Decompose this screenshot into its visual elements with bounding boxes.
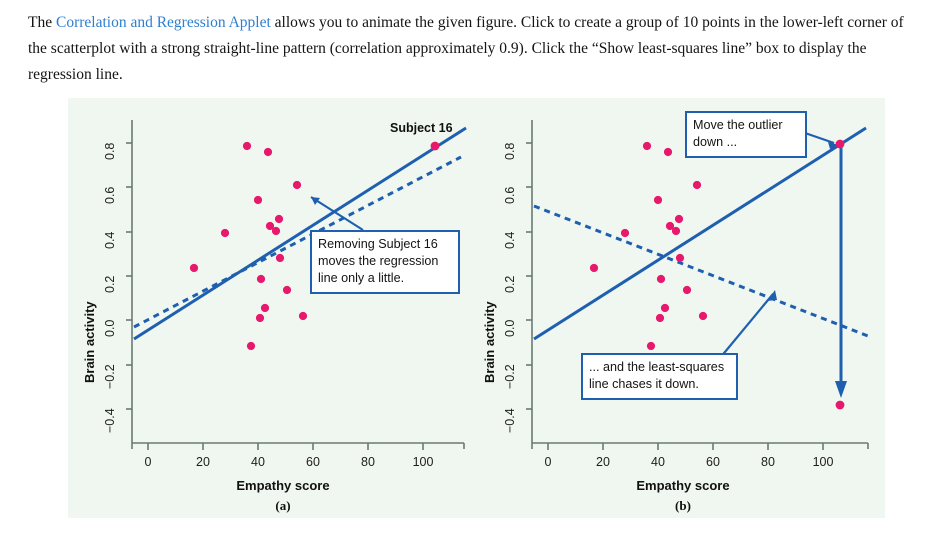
y-tick-label-0.0-a: 0.0: [103, 320, 117, 337]
subcaption-b: (b): [633, 498, 733, 514]
chases-callout-leader-b: [720, 294, 773, 358]
data-point: [654, 196, 662, 204]
subcaption-a: (a): [233, 498, 333, 514]
x-tick-label-80-a: 80: [354, 455, 382, 469]
callout-line-2: line chases it down.: [589, 376, 730, 393]
y-tick-label-0.8-b: 0.8: [503, 143, 517, 160]
data-point: [221, 229, 229, 237]
regression-callout-a: Removing Subject 16 moves the regression…: [310, 230, 460, 294]
callout-line-3: line only a little.: [318, 270, 452, 287]
outlier-move-arrow-head-b: [835, 381, 847, 398]
data-point: [621, 229, 629, 237]
regression-callout-leader-a: [311, 197, 363, 230]
y-tick-label-0.6-a: 0.6: [103, 187, 117, 204]
move-outlier-callout-b: Move the outlier down ...: [685, 111, 807, 158]
data-point: [657, 275, 665, 283]
data-point: [699, 312, 707, 320]
callout-line-1: Removing Subject 16: [318, 236, 452, 253]
move-outlier-callout-leader-b: [805, 133, 834, 143]
data-point-outlier-original: [836, 140, 845, 149]
data-point: [675, 215, 683, 223]
x-tick-label-100-b: 100: [809, 455, 837, 469]
callout-line-2: down ...: [693, 134, 799, 151]
data-point: [676, 254, 684, 262]
intro-paragraph: The Correlation and Regression Applet al…: [28, 10, 924, 88]
chases-callout-arrowhead-b: [767, 290, 777, 301]
x-tick-label-80-b: 80: [754, 455, 782, 469]
scatterplot-b: Brain activity 0.8 0.6 0.4 0.2 0.0 −0.2 …: [468, 98, 876, 518]
y-tick-label-0.0-b: 0.0: [503, 320, 517, 337]
x-tick-label-100-a: 100: [409, 455, 437, 469]
data-point: [664, 148, 672, 156]
data-point-subject-16: [431, 142, 440, 151]
original-least-squares-line-b: [534, 128, 866, 339]
data-point: [647, 342, 655, 350]
data-point: [261, 304, 269, 312]
y-tick-label-0.6-b: 0.6: [503, 187, 517, 204]
x-tick-label-40-b: 40: [644, 455, 672, 469]
y-tick-label-neg0.2-b: −0.2: [503, 364, 517, 389]
data-point: [256, 314, 264, 322]
data-point: [190, 264, 198, 272]
data-point: [283, 286, 291, 294]
callout-line-1: ... and the least-squares: [589, 359, 730, 376]
callout-line-1: Move the outlier: [693, 117, 799, 134]
y-tick-label-neg0.2-a: −0.2: [103, 364, 117, 389]
y-tick-label-0.2-b: 0.2: [503, 276, 517, 293]
data-point: [693, 181, 701, 189]
data-point: [247, 342, 255, 350]
data-point: [264, 148, 272, 156]
y-axis-label-a: Brain activity: [82, 301, 97, 383]
correlation-regression-applet-link[interactable]: Correlation and Regression Applet: [56, 14, 271, 31]
least-squares-chases-callout-b: ... and the least-squares line chases it…: [581, 353, 738, 400]
data-point: [257, 275, 265, 283]
data-point: [643, 142, 651, 150]
data-point: [299, 312, 307, 320]
y-tick-label-0.4-b: 0.4: [503, 232, 517, 249]
x-tick-label-0-a: 0: [134, 455, 162, 469]
data-point: [254, 196, 262, 204]
intro-text-before-link: The: [28, 14, 56, 31]
y-tick-label-0.4-a: 0.4: [103, 232, 117, 249]
x-tick-label-20-a: 20: [189, 455, 217, 469]
data-point: [293, 181, 301, 189]
y-tick-label-neg0.4-b: −0.4: [503, 408, 517, 433]
data-point: [661, 304, 669, 312]
y-tick-label-neg0.4-a: −0.4: [103, 408, 117, 433]
x-tick-label-0-b: 0: [534, 455, 562, 469]
callout-line-2: moves the regression: [318, 253, 452, 270]
x-tick-label-60-b: 60: [699, 455, 727, 469]
subject-16-label: Subject 16: [390, 121, 453, 135]
scatterplot-a: Brain activity 0.8 0.6 0.4 0.2 0.0 −0.2 …: [68, 98, 476, 518]
data-point: [672, 227, 680, 235]
x-axis-label-b: Empathy score: [608, 478, 758, 493]
data-point: [272, 227, 280, 235]
data-point: [276, 254, 284, 262]
data-point: [656, 314, 664, 322]
x-tick-label-40-a: 40: [244, 455, 272, 469]
data-point: [590, 264, 598, 272]
data-point: [243, 142, 251, 150]
y-tick-label-0.2-a: 0.2: [103, 276, 117, 293]
y-axis-label-b: Brain activity: [482, 301, 497, 383]
y-tick-label-0.8-a: 0.8: [103, 143, 117, 160]
data-point: [683, 286, 691, 294]
data-point: [275, 215, 283, 223]
x-tick-label-60-a: 60: [299, 455, 327, 469]
x-tick-label-20-b: 20: [589, 455, 617, 469]
x-axis-label-a: Empathy score: [208, 478, 358, 493]
data-point-outlier-moved: [836, 401, 845, 410]
figure-panel: Brain activity 0.8 0.6 0.4 0.2 0.0 −0.2 …: [68, 98, 885, 518]
